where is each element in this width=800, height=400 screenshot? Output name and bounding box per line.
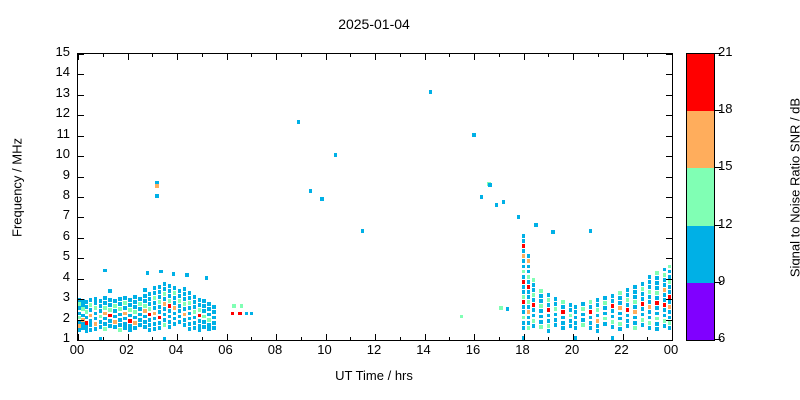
data-cell	[138, 302, 141, 306]
data-cell	[309, 189, 312, 193]
data-cell	[163, 282, 166, 286]
data-cell	[522, 280, 525, 284]
data-cell	[522, 259, 525, 263]
y-tick	[666, 115, 672, 116]
data-cell	[618, 301, 621, 305]
data-cell	[133, 321, 136, 325]
data-cell	[596, 319, 599, 323]
data-cell	[522, 275, 525, 279]
plot-area[interactable]	[77, 53, 673, 341]
y-tick	[666, 197, 672, 198]
data-cell	[522, 270, 525, 274]
data-cell	[633, 310, 636, 314]
data-cell	[183, 302, 186, 306]
data-cell	[527, 259, 530, 263]
data-cell	[163, 292, 166, 296]
x-minor-tick	[152, 337, 153, 340]
x-tick-label: 08	[268, 342, 282, 357]
y-tick	[666, 74, 672, 75]
data-cell	[99, 320, 102, 324]
data-cell	[143, 309, 146, 313]
data-cell	[99, 299, 102, 303]
data-cell	[539, 325, 542, 329]
y-tick	[666, 258, 672, 259]
data-cell	[633, 285, 636, 289]
data-cell	[113, 304, 116, 308]
data-cell	[99, 325, 102, 329]
x-minor-tick	[251, 337, 252, 340]
data-cell	[527, 254, 530, 258]
data-cell	[522, 234, 525, 238]
data-cell	[153, 286, 156, 290]
data-cell	[574, 310, 577, 314]
data-cell	[193, 316, 196, 320]
data-cell	[589, 316, 592, 320]
data-cell	[522, 290, 525, 294]
data-cell	[668, 280, 671, 284]
data-cell	[596, 303, 599, 307]
data-cell	[123, 306, 126, 310]
data-cell	[554, 307, 557, 311]
data-cell	[527, 265, 530, 269]
data-cell	[183, 292, 186, 296]
x-tick	[672, 334, 673, 340]
data-cell	[527, 270, 530, 274]
data-cell	[198, 308, 201, 312]
data-cell	[178, 309, 181, 313]
data-cell	[163, 287, 166, 291]
data-cell	[103, 327, 106, 331]
data-cell	[522, 300, 525, 304]
data-cell	[193, 326, 196, 330]
data-cell	[502, 200, 505, 204]
data-cell	[522, 316, 525, 320]
x-tick	[524, 54, 525, 60]
data-cell	[143, 325, 146, 329]
data-cell	[547, 314, 550, 318]
y-tick-label: 3	[63, 289, 70, 304]
x-minor-tick	[350, 54, 351, 57]
data-cell	[663, 273, 666, 277]
data-cell	[138, 318, 141, 322]
x-tick	[326, 54, 327, 60]
data-cell	[626, 298, 629, 302]
data-cell	[611, 336, 614, 340]
x-minor-tick	[598, 54, 599, 57]
x-tick-label: 00	[664, 342, 678, 357]
data-cell	[611, 320, 614, 324]
data-cell	[148, 292, 151, 296]
data-cell	[611, 294, 614, 298]
data-cell	[499, 306, 502, 310]
data-cell	[103, 301, 106, 305]
data-cell	[539, 309, 542, 313]
colorbar-tick-marks	[686, 53, 715, 339]
y-tick	[78, 115, 84, 116]
data-cell	[123, 301, 126, 305]
data-cell	[626, 303, 629, 307]
x-minor-tick	[499, 337, 500, 340]
x-tick	[78, 334, 79, 340]
y-tick	[78, 74, 84, 75]
data-cell	[168, 309, 171, 313]
data-cell	[123, 326, 126, 330]
data-cell	[633, 305, 636, 309]
y-tick-label: 5	[63, 248, 70, 263]
data-cell	[472, 133, 475, 137]
y-axis-tick-labels: 123456789101112131415	[32, 53, 70, 339]
data-cell	[603, 312, 606, 316]
data-cell	[641, 282, 644, 286]
data-cell	[574, 321, 577, 325]
x-minor-tick	[103, 54, 104, 57]
data-cell	[103, 322, 106, 326]
x-minor-tick	[202, 337, 203, 340]
data-cell	[527, 295, 530, 299]
data-cell	[163, 307, 166, 311]
data-cell	[173, 286, 176, 290]
data-cell	[532, 298, 535, 302]
data-cell	[118, 328, 121, 332]
data-cell	[103, 306, 106, 310]
data-cell	[534, 223, 537, 227]
x-tick-label: 12	[367, 342, 381, 357]
data-cell	[561, 326, 564, 330]
data-cell	[198, 328, 201, 332]
data-cell	[522, 249, 525, 253]
x-tick-label: 14	[416, 342, 430, 357]
data-cell	[641, 323, 644, 327]
x-tick-label: 00	[70, 342, 84, 357]
x-axis-label: UT Time / hrs	[77, 368, 671, 383]
x-minor-tick	[152, 54, 153, 57]
x-minor-tick	[400, 54, 401, 57]
data-cell	[153, 317, 156, 321]
x-tick	[375, 54, 376, 60]
data-cell	[480, 195, 483, 199]
y-tick	[666, 238, 672, 239]
data-cell	[153, 322, 156, 326]
data-cell	[153, 291, 156, 295]
data-cell	[527, 326, 530, 330]
data-cell	[188, 306, 191, 310]
data-cell	[633, 321, 636, 325]
data-cell	[527, 300, 530, 304]
data-cell	[89, 298, 92, 302]
data-cell	[118, 302, 121, 306]
data-cell	[185, 273, 188, 277]
data-cell	[168, 284, 171, 288]
data-cell	[603, 317, 606, 321]
data-cell	[202, 304, 205, 308]
data-cell	[561, 305, 564, 309]
data-cell	[527, 275, 530, 279]
x-tick-label: 22	[614, 342, 628, 357]
data-cell	[547, 303, 550, 307]
x-tick-label: 10	[317, 342, 331, 357]
data-cell	[153, 327, 156, 331]
data-cell	[517, 215, 520, 219]
data-cell	[539, 294, 542, 298]
data-cell	[173, 306, 176, 310]
data-cell	[198, 319, 201, 323]
data-cell	[626, 324, 629, 328]
data-cell	[193, 300, 196, 304]
data-cell	[611, 325, 614, 329]
data-cell	[178, 304, 181, 308]
data-cell	[532, 319, 535, 323]
y-tick	[78, 320, 84, 321]
x-minor-tick	[598, 337, 599, 340]
data-cell	[158, 326, 161, 330]
data-cell	[245, 312, 248, 316]
y-tick	[666, 95, 672, 96]
y-tick-label: 9	[63, 167, 70, 182]
data-cell	[547, 329, 550, 333]
data-cell	[532, 293, 535, 297]
data-cell	[655, 301, 658, 305]
data-cell	[655, 322, 658, 326]
data-cell	[168, 299, 171, 303]
x-tick	[425, 334, 426, 340]
data-cell	[178, 315, 181, 319]
data-cell	[668, 300, 671, 304]
y-tick	[78, 279, 84, 280]
data-cell	[626, 319, 629, 323]
y-tick	[666, 136, 672, 137]
data-cell	[146, 271, 149, 275]
data-cell	[522, 295, 525, 299]
data-cell	[212, 326, 215, 330]
y-tick-label: 8	[63, 187, 70, 202]
data-cell	[128, 303, 131, 307]
data-cell	[143, 315, 146, 319]
data-cell	[618, 291, 621, 295]
data-cell	[183, 287, 186, 291]
data-cell	[581, 313, 584, 317]
data-cell	[589, 326, 592, 330]
data-cell	[561, 310, 564, 314]
data-cell	[527, 290, 530, 294]
data-cell	[589, 300, 592, 304]
data-cell	[148, 328, 151, 332]
data-cell	[603, 296, 606, 300]
data-cell	[158, 321, 161, 325]
data-cell	[163, 297, 166, 301]
data-cell	[648, 275, 651, 279]
y-tick-label: 12	[56, 105, 70, 120]
data-cell	[138, 297, 141, 301]
data-cell	[539, 315, 542, 319]
y-tick-label: 10	[56, 146, 70, 161]
data-cell	[183, 318, 186, 322]
data-cell	[547, 324, 550, 328]
data-cell	[153, 301, 156, 305]
data-cell	[143, 299, 146, 303]
data-cell	[103, 296, 106, 300]
data-cell	[522, 244, 525, 248]
data-cell	[574, 305, 577, 309]
data-cell	[158, 310, 161, 314]
chart-title: 2025-01-04	[0, 16, 748, 32]
data-cell	[547, 298, 550, 302]
data-cell	[569, 319, 572, 323]
data-cell	[581, 302, 584, 306]
data-cell	[188, 301, 191, 305]
data-cell	[648, 310, 651, 314]
data-cell	[143, 294, 146, 298]
y-tick	[78, 340, 84, 341]
data-cell	[143, 320, 146, 324]
data-cell	[155, 194, 158, 198]
data-cell	[611, 315, 614, 319]
data-cell	[618, 306, 621, 310]
data-cell	[522, 310, 525, 314]
data-cell	[648, 321, 651, 325]
y-tick-label: 7	[63, 207, 70, 222]
data-cell	[113, 320, 116, 324]
data-cell	[108, 319, 111, 323]
data-cell	[554, 313, 557, 317]
y-tick	[666, 156, 672, 157]
data-cell	[198, 314, 201, 318]
data-cell	[183, 323, 186, 327]
data-cell	[207, 313, 210, 317]
data-cell	[522, 305, 525, 309]
data-cell	[626, 293, 629, 297]
data-cell	[633, 295, 636, 299]
data-cell	[663, 314, 666, 318]
colorbar-tick-label: 18	[718, 101, 732, 116]
x-axis-tick-labels: 00020406081012141618202200	[77, 342, 671, 362]
data-cell	[495, 203, 498, 207]
x-tick-label: 18	[515, 342, 529, 357]
x-tick-label: 02	[119, 342, 133, 357]
data-cell	[648, 305, 651, 309]
data-cell	[611, 304, 614, 308]
data-cell	[168, 320, 171, 324]
data-cell	[207, 327, 210, 331]
data-cell	[554, 302, 557, 306]
data-cell	[596, 314, 599, 318]
data-cell	[527, 321, 530, 325]
x-tick-label: 16	[466, 342, 480, 357]
data-cell	[128, 328, 131, 332]
data-cell	[202, 325, 205, 329]
data-cell	[655, 281, 658, 285]
data-cell	[193, 305, 196, 309]
data-cell	[168, 325, 171, 329]
data-cell	[633, 300, 636, 304]
data-cell	[238, 312, 241, 316]
data-cell	[138, 313, 141, 317]
data-cell	[581, 323, 584, 327]
data-cell	[527, 316, 530, 320]
y-tick-label: 11	[57, 126, 71, 141]
data-cell	[183, 313, 186, 317]
x-tick	[623, 334, 624, 340]
data-cell	[133, 305, 136, 309]
data-cell	[99, 309, 102, 313]
data-cell	[178, 299, 181, 303]
x-minor-tick	[251, 54, 252, 57]
data-cell	[596, 298, 599, 302]
data-cell	[554, 318, 557, 322]
data-cell	[663, 288, 666, 292]
data-cell	[334, 153, 337, 157]
data-cell	[158, 285, 161, 289]
x-minor-tick	[647, 54, 648, 57]
data-cell	[118, 307, 121, 311]
data-cell	[668, 321, 671, 325]
x-minor-tick	[548, 54, 549, 57]
y-tick	[78, 258, 84, 259]
data-cell	[522, 254, 525, 258]
data-cell	[648, 280, 651, 284]
data-cell	[148, 323, 151, 327]
x-tick	[78, 54, 79, 60]
x-tick	[227, 334, 228, 340]
data-cell	[648, 326, 651, 330]
y-tick	[666, 320, 672, 321]
y-tick	[666, 340, 672, 341]
data-cell	[143, 288, 146, 292]
data-cell	[178, 294, 181, 298]
y-tick-label: 2	[63, 310, 70, 325]
data-cell	[641, 307, 644, 311]
x-tick-label: 04	[169, 342, 183, 357]
data-cell	[574, 316, 577, 320]
data-cell	[641, 287, 644, 291]
data-cell	[128, 308, 131, 312]
data-cell	[133, 300, 136, 304]
data-cell	[618, 312, 621, 316]
x-minor-tick	[202, 54, 203, 57]
data-cell	[668, 316, 671, 320]
data-cell	[133, 316, 136, 320]
data-cell	[603, 306, 606, 310]
data-cell	[155, 184, 158, 188]
data-cell	[153, 296, 156, 300]
data-cell	[460, 315, 463, 319]
colorbar-tick-label: 21	[718, 44, 732, 59]
data-cell	[108, 308, 111, 312]
data-cell	[532, 288, 535, 292]
data-cell	[113, 299, 116, 303]
data-cell	[168, 289, 171, 293]
data-cell	[633, 316, 636, 320]
data-cell	[163, 318, 166, 322]
data-cell	[138, 323, 141, 327]
x-tick	[474, 54, 475, 60]
data-cell	[668, 275, 671, 279]
data-cell	[488, 183, 491, 187]
data-cell	[641, 313, 644, 317]
data-cell	[163, 337, 166, 340]
data-cell	[113, 309, 116, 313]
data-cell	[118, 323, 121, 327]
data-cell	[547, 308, 550, 312]
y-tick	[666, 279, 672, 280]
data-cell	[108, 324, 111, 328]
data-cell	[89, 314, 92, 318]
data-cell	[554, 323, 557, 327]
data-cell	[522, 285, 525, 289]
data-cell	[158, 295, 161, 299]
colorbar-tick-label: 9	[718, 273, 725, 288]
colorbar-tick-label: 6	[718, 330, 725, 345]
data-cell	[589, 321, 592, 325]
